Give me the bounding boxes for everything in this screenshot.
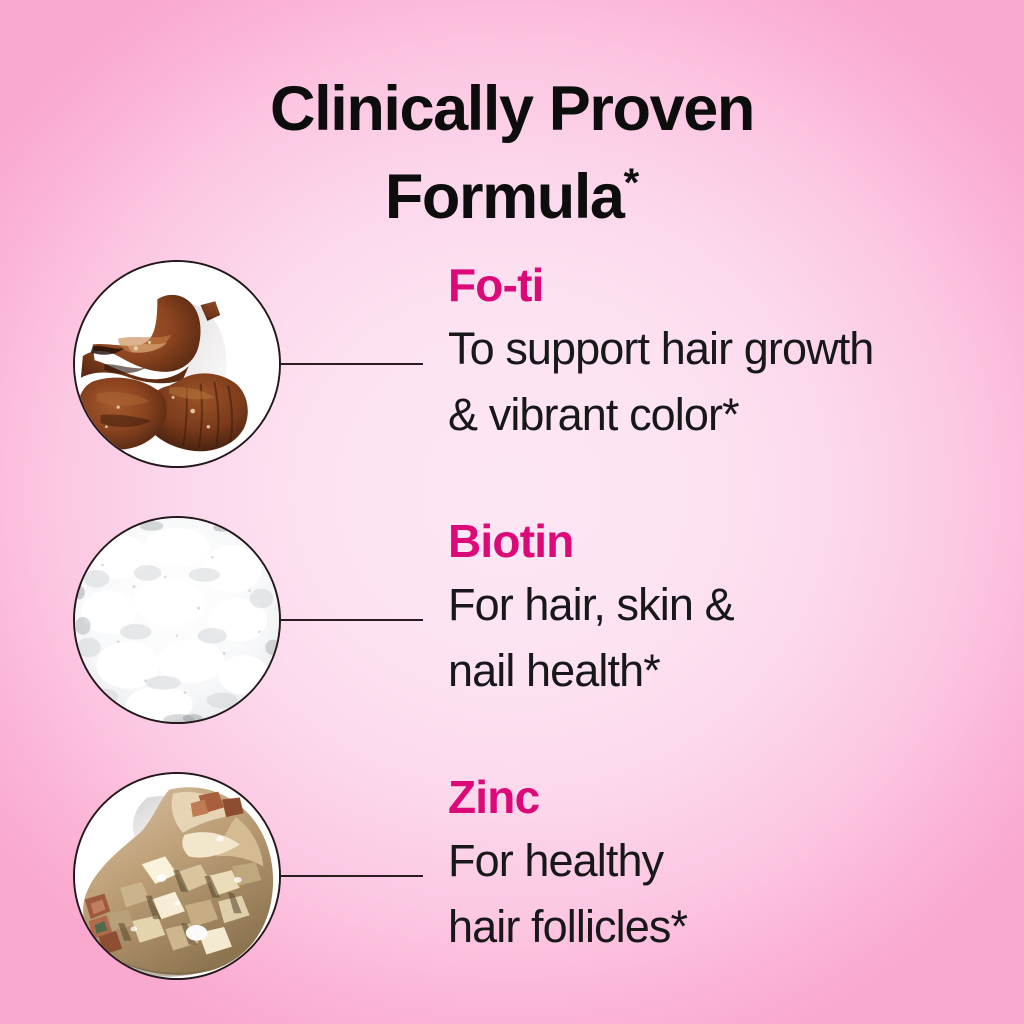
ingredient-text-biotin: Biotin For hair, skin & nail health*	[448, 516, 988, 704]
ingredient-row-biotin: Biotin For hair, skin & nail health*	[0, 516, 1024, 728]
ingredient-text-fo-ti: Fo-ti To support hair growth & vibrant c…	[448, 260, 988, 448]
page-title-line-2-text: Formula	[385, 162, 624, 232]
ingredient-row-fo-ti: Fo-ti To support hair growth & vibrant c…	[0, 260, 1024, 472]
page-title-line-1: Clinically Proven	[0, 72, 1024, 146]
ingredient-text-zinc: Zinc For healthy hair follicles*	[448, 772, 988, 960]
ingredient-name-fo-ti: Fo-ti	[448, 260, 988, 310]
ingredient-name-zinc: Zinc	[448, 772, 988, 822]
ingredient-description-zinc: For healthy hair follicles*	[448, 828, 988, 960]
connector-line-fo-ti	[281, 363, 423, 365]
ingredient-description-fo-ti: To support hair growth & vibrant color*	[448, 316, 988, 448]
fo-ti-root-illustration	[75, 262, 279, 466]
description-line: For hair, skin &	[448, 572, 988, 638]
ingredient-infographic: Clinically Proven Formula*	[0, 0, 1024, 1024]
description-line: & vibrant color*	[448, 382, 988, 448]
ingredient-row-zinc: Zinc For healthy hair follicles*	[0, 772, 1024, 984]
description-line: hair follicles*	[448, 894, 988, 960]
ingredient-description-biotin: For hair, skin & nail health*	[448, 572, 988, 704]
connector-line-biotin	[281, 619, 423, 621]
biotin-powder-illustration	[75, 518, 279, 722]
description-line: For healthy	[448, 828, 988, 894]
description-line: nail health*	[448, 638, 988, 704]
fo-ti-root-photo	[73, 260, 281, 468]
page-title: Clinically Proven Formula*	[0, 72, 1024, 234]
connector-line-zinc	[281, 875, 423, 877]
description-line: To support hair growth	[448, 316, 988, 382]
biotin-powder-photo	[73, 516, 281, 724]
page-title-asterisk: *	[624, 161, 640, 205]
zinc-mineral-illustration	[75, 774, 279, 978]
zinc-mineral-photo	[73, 772, 281, 980]
page-title-line-2: Formula*	[0, 146, 1024, 234]
ingredient-name-biotin: Biotin	[448, 516, 988, 566]
